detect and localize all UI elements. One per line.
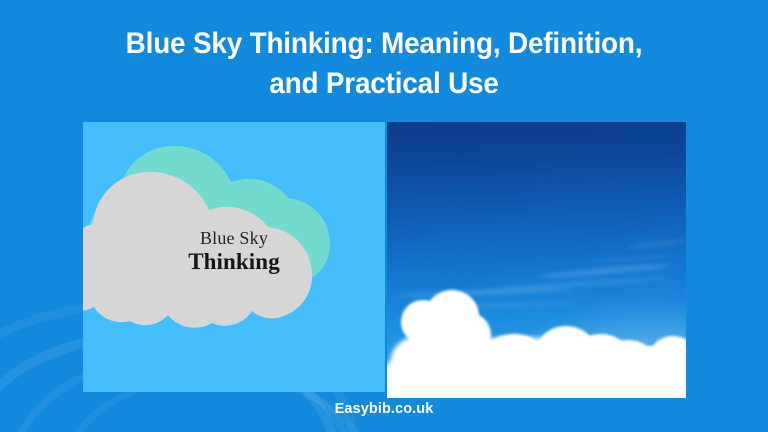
page-title: Blue Sky Thinking: Meaning, Definition, … (83, 24, 686, 103)
footer-source: Easybib.co.uk (0, 401, 768, 417)
right-photo-panel (387, 122, 686, 398)
left-illustration-panel (83, 122, 385, 392)
cloud-illustration-svg (83, 122, 385, 392)
slide-canvas: Blue Sky Thinking: Meaning, Definition, … (0, 0, 768, 432)
